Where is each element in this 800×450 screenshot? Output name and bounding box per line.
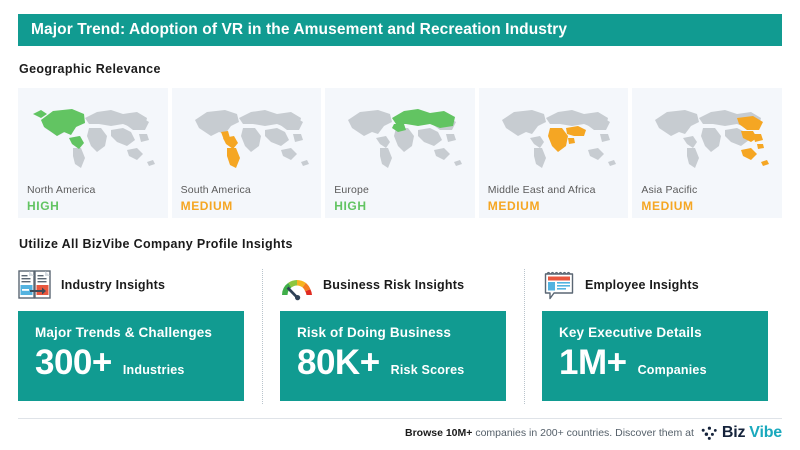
geographic-relevance-strip: North America HIGH xyxy=(18,88,782,218)
footer-text: Browse 10M+ companies in 200+ countries.… xyxy=(405,427,694,439)
geo-cell-south-america[interactable]: South America MEDIUM xyxy=(172,88,322,218)
card-body: Key Executive Details 1M+ Companies xyxy=(542,311,768,401)
card-figure: 300+ Industries xyxy=(35,345,244,380)
footer-detail: companies in 200+ countries. Discover th… xyxy=(472,427,693,439)
card-divider xyxy=(524,269,525,404)
geo-region-name: North America xyxy=(27,184,95,196)
documents-icon xyxy=(18,269,52,301)
notepad-icon xyxy=(542,269,576,301)
card-body: Risk of Doing Business 80K+ Risk Scores xyxy=(280,311,506,401)
insight-card-business-risk[interactable]: Business Risk Insights Risk of Doing Bus… xyxy=(258,263,520,408)
gauge-icon xyxy=(280,269,314,301)
geo-region-name: Middle East and Africa xyxy=(488,184,596,196)
world-map-south-america-icon xyxy=(181,98,311,172)
insight-card-employee[interactable]: Employee Insights Key Executive Details … xyxy=(520,263,782,408)
insight-card-industry[interactable]: Industry Insights Major Trends & Challen… xyxy=(18,263,258,408)
card-subtitle: Key Executive Details xyxy=(559,325,768,340)
geo-cell-north-america[interactable]: North America HIGH xyxy=(18,88,168,218)
logo-text-vibe: Vibe xyxy=(749,424,782,442)
card-subtitle: Major Trends & Challenges xyxy=(35,325,244,340)
geo-region-level: MEDIUM xyxy=(641,199,693,213)
geo-region-level: MEDIUM xyxy=(181,199,233,213)
card-metric-unit: Risk Scores xyxy=(391,363,465,377)
geo-region-name: South America xyxy=(181,184,251,196)
card-title: Business Risk Insights xyxy=(323,278,464,292)
geo-region-level: HIGH xyxy=(334,199,366,213)
profile-insights-heading: Utilize All BizVibe Company Profile Insi… xyxy=(19,237,293,251)
geo-cell-middle-east-africa[interactable]: Middle East and Africa MEDIUM xyxy=(479,88,629,218)
card-figure: 80K+ Risk Scores xyxy=(297,345,506,380)
footer: Browse 10M+ companies in 200+ countries.… xyxy=(405,424,782,442)
footer-divider xyxy=(18,418,782,419)
card-divider xyxy=(262,269,263,404)
card-header: Business Risk Insights xyxy=(280,263,506,307)
header-banner: Major Trend: Adoption of VR in the Amuse… xyxy=(18,14,782,46)
insight-cards-row: Industry Insights Major Trends & Challen… xyxy=(18,263,782,408)
card-title: Employee Insights xyxy=(585,278,699,292)
geo-region-level: MEDIUM xyxy=(488,199,540,213)
card-figure: 1M+ Companies xyxy=(559,345,768,380)
card-header: Employee Insights xyxy=(542,263,768,307)
card-metric-value: 1M+ xyxy=(559,345,627,380)
geo-region-level: HIGH xyxy=(27,199,59,213)
bizvibe-dots-icon xyxy=(701,426,718,441)
card-subtitle: Risk of Doing Business xyxy=(297,325,506,340)
geo-cell-asia-pacific[interactable]: Asia Pacific MEDIUM xyxy=(632,88,782,218)
world-map-middle-east-africa-icon xyxy=(488,98,618,172)
card-header: Industry Insights xyxy=(18,263,244,307)
card-metric-value: 300+ xyxy=(35,345,112,380)
world-map-europe-icon xyxy=(334,98,464,172)
world-map-north-america-icon xyxy=(27,98,157,172)
logo-text-biz: Biz xyxy=(722,424,745,442)
card-metric-unit: Industries xyxy=(123,363,185,377)
card-title: Industry Insights xyxy=(61,278,165,292)
footer-lead: Browse 10M+ xyxy=(405,427,472,439)
geo-region-name: Europe xyxy=(334,184,369,196)
world-map-asia-pacific-icon xyxy=(641,98,771,172)
card-metric-unit: Companies xyxy=(638,363,707,377)
geo-cell-europe[interactable]: Europe HIGH xyxy=(325,88,475,218)
infographic-page: Major Trend: Adoption of VR in the Amuse… xyxy=(0,0,800,450)
card-body: Major Trends & Challenges 300+ Industrie… xyxy=(18,311,244,401)
geographic-relevance-heading: Geographic Relevance xyxy=(19,62,161,76)
bizvibe-logo[interactable]: BizVibe xyxy=(701,424,782,442)
page-title: Major Trend: Adoption of VR in the Amuse… xyxy=(18,21,567,39)
card-metric-value: 80K+ xyxy=(297,345,380,380)
geo-region-name: Asia Pacific xyxy=(641,184,697,196)
